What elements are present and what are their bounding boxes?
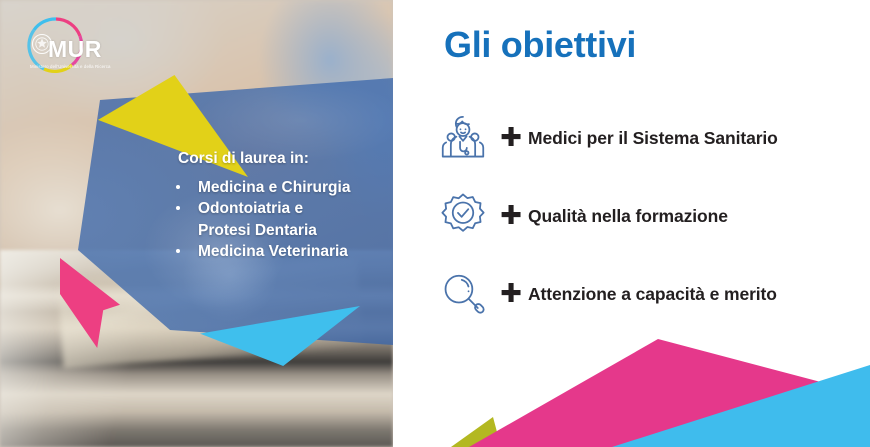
courses-heading: Corsi di laurea in: <box>178 150 393 168</box>
slide-root: MUR Ministero dell'Università e della Ri… <box>0 0 870 447</box>
list-item: Odontoiatria e <box>150 198 393 219</box>
objective-row: ✚ Qualità nella formazione <box>432 177 870 255</box>
plus-icon: ✚ <box>494 281 528 307</box>
medical-team-icon <box>432 111 494 165</box>
plus-icon: ✚ <box>494 203 528 229</box>
objective-row: ✚ Attenzione a capacità e merito <box>432 255 870 333</box>
right-panel: Gli obiettivi <box>393 0 870 447</box>
objective-row: ✚ Medici per il Sistema Sanitario <box>432 99 870 177</box>
mur-acronym: MUR <box>48 38 102 61</box>
bullet-dot-icon <box>176 185 180 189</box>
mur-subtitle: Ministero dell'Università e della Ricerc… <box>30 64 111 69</box>
courses-list: Medicina e Chirurgia Odontoiatria e Prot… <box>150 177 393 263</box>
courses-text-block: Corsi di laurea in: Medicina e Chirurgia… <box>150 150 393 263</box>
left-panel: MUR Ministero dell'Università e della Ri… <box>0 0 393 447</box>
list-item-continuation: Protesi Dentaria <box>150 220 393 241</box>
objectives-list: ✚ Medici per il Sistema Sanitario ✚ Qual… <box>432 99 870 333</box>
magnifier-icon <box>432 268 494 320</box>
list-item: Medicina Veterinaria <box>150 241 393 262</box>
bullet-dot-icon <box>176 249 180 253</box>
objective-label: Medici per il Sistema Sanitario <box>528 128 778 149</box>
page-title: Gli obiettivi <box>444 24 636 66</box>
quality-badge-check-icon <box>432 190 494 242</box>
list-item-label: Protesi Dentaria <box>198 222 317 239</box>
list-item-label: Odontoiatria e <box>198 200 303 217</box>
plus-icon: ✚ <box>494 125 528 151</box>
list-item: Medicina e Chirurgia <box>150 177 393 198</box>
list-item-label: Medicina Veterinaria <box>198 243 348 260</box>
objective-label: Attenzione a capacità e merito <box>528 284 777 305</box>
mur-logo: MUR Ministero dell'Università e della Ri… <box>12 10 112 88</box>
bullet-dot-icon <box>176 206 180 210</box>
objective-label: Qualità nella formazione <box>528 206 728 227</box>
list-item-label: Medicina e Chirurgia <box>198 179 350 196</box>
